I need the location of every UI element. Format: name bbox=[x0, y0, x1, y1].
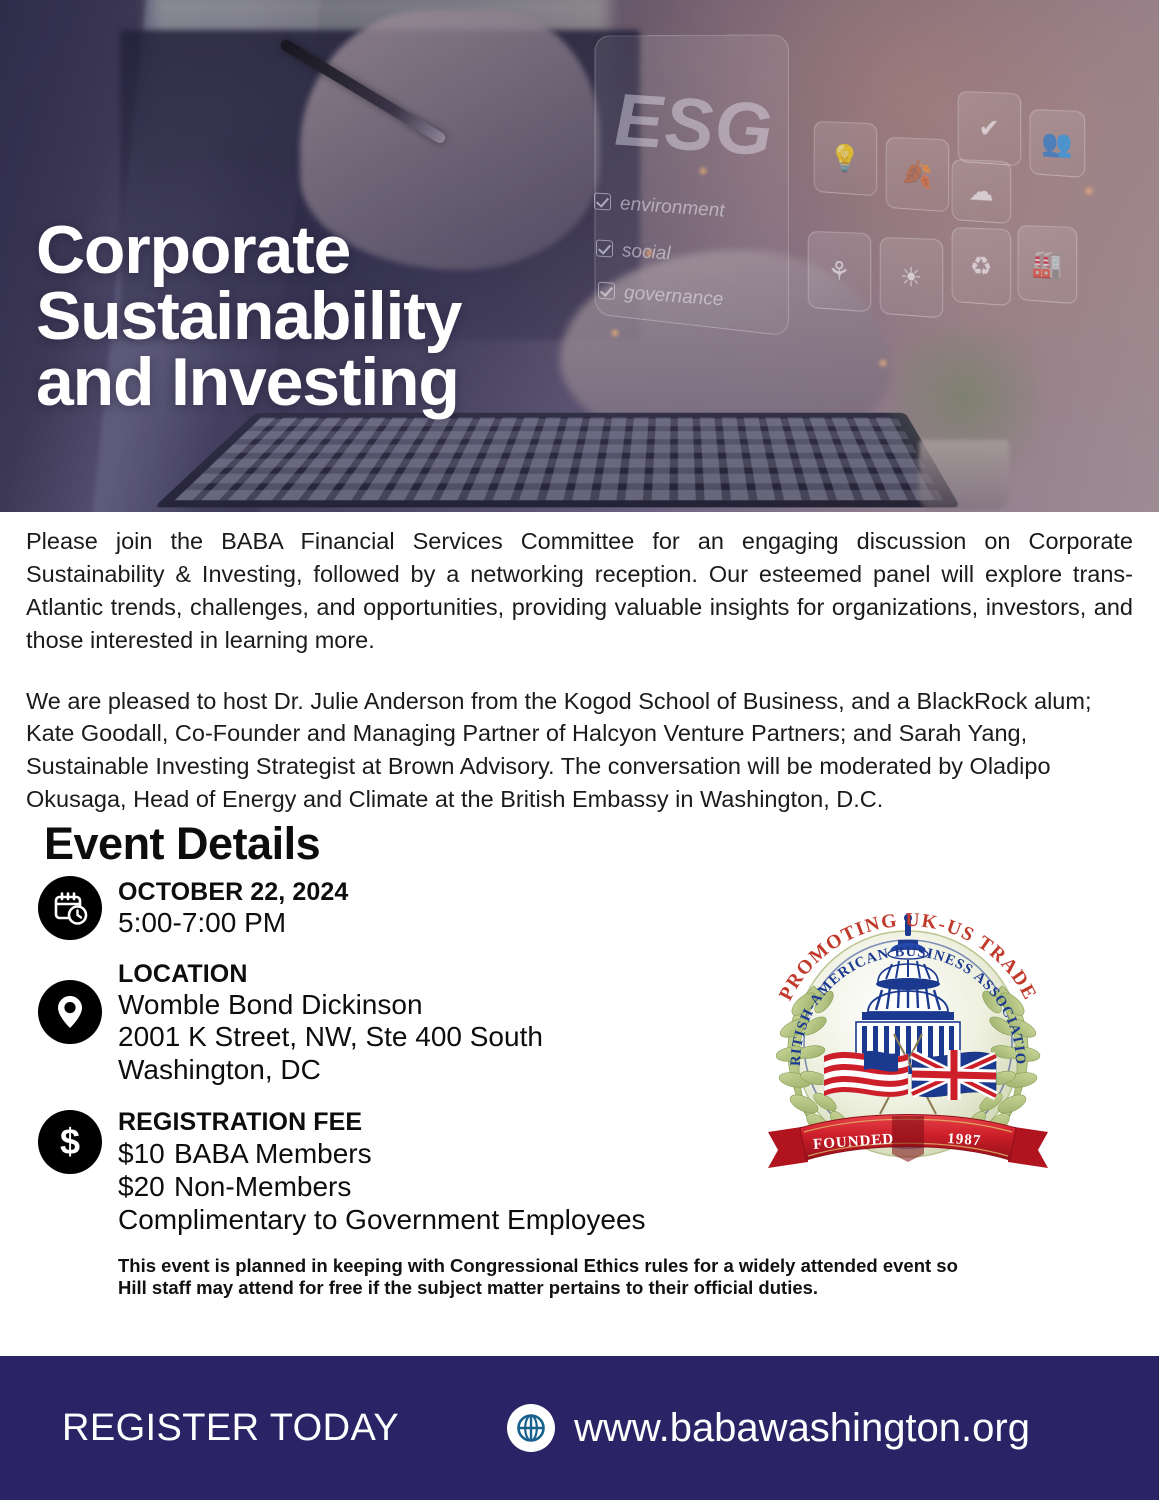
map-pin-icon bbox=[38, 980, 102, 1044]
fee-amount: $10 bbox=[118, 1137, 174, 1170]
leaf-hand-icon: 🍂 bbox=[886, 137, 949, 212]
checkbox-icon bbox=[596, 239, 613, 257]
event-street: 2001 K Street, NW, Ste 400 South bbox=[118, 1021, 543, 1053]
hero-sparkle bbox=[700, 168, 706, 174]
page-title: Corporate Sustainability and Investing bbox=[36, 218, 461, 416]
recycle-icon: ♻ bbox=[952, 227, 1012, 306]
people-icon: 👥 bbox=[1029, 109, 1085, 178]
checkbox-icon bbox=[594, 192, 611, 210]
ethics-disclaimer: This event is planned in keeping with Co… bbox=[118, 1255, 1078, 1300]
website-link[interactable]: www.babawashington.org bbox=[507, 1404, 1030, 1452]
fee-amount: $20 bbox=[118, 1170, 174, 1203]
page-title-line-3: and Investing bbox=[36, 350, 461, 416]
solar-panel-icon: ☀ bbox=[880, 237, 943, 318]
event-location-label: LOCATION bbox=[118, 960, 543, 989]
event-venue: Womble Bond Dickinson bbox=[118, 989, 543, 1021]
hero-sparkle bbox=[880, 360, 886, 366]
intro-paragraph-1: Please join the BABA Financial Services … bbox=[26, 525, 1133, 657]
lightbulb-icon: 💡 bbox=[814, 121, 877, 196]
uk-flag-icon bbox=[912, 1050, 996, 1100]
factory-icon: 🏭 bbox=[1018, 225, 1078, 304]
check-circle-icon: ✔ bbox=[958, 91, 1021, 166]
footer-bar: REGISTER TODAY www.babawashington.org bbox=[0, 1356, 1159, 1500]
event-time-label: 5:00-7:00 PM bbox=[118, 907, 348, 939]
event-fee-label: REGISTRATION FEE bbox=[118, 1108, 646, 1137]
hero-keyboard bbox=[154, 413, 961, 508]
intro-paragraph-2: We are pleased to host Dr. Julie Anderso… bbox=[26, 685, 1133, 817]
hero-banner: ESG environment social governance 💡 🍂 ✔ … bbox=[0, 0, 1159, 512]
logo-ribbon-right-text: 1987 bbox=[947, 1131, 982, 1149]
hero-sparkle bbox=[612, 330, 618, 336]
intro-section: Please join the BABA Financial Services … bbox=[0, 512, 1159, 816]
event-date-label: OCTOBER 22, 2024 bbox=[118, 878, 348, 907]
register-today-cta[interactable]: REGISTER TODAY bbox=[62, 1407, 399, 1450]
event-details-heading: Event Details bbox=[44, 818, 1159, 870]
hero-sparkle bbox=[646, 250, 652, 256]
website-url: www.babawashington.org bbox=[574, 1406, 1030, 1451]
fee-complimentary-note: Complimentary to Government Employees bbox=[118, 1203, 646, 1236]
globe-icon bbox=[507, 1404, 555, 1452]
svg-text:$: $ bbox=[60, 1121, 80, 1162]
page-title-line-1: Corporate bbox=[36, 218, 461, 284]
fee-audience: Non-Members bbox=[174, 1171, 351, 1202]
event-city: Washington, DC bbox=[118, 1054, 543, 1086]
page-title-line-2: Sustainability bbox=[36, 284, 461, 350]
ethics-disclaimer-line-2: Hill staff may attend for free if the su… bbox=[118, 1277, 1078, 1300]
calendar-clock-icon bbox=[38, 876, 102, 940]
globe-network-icon: ☁ bbox=[952, 159, 1012, 224]
ethics-disclaimer-line-1: This event is planned in keeping with Co… bbox=[118, 1255, 1078, 1278]
dollar-sign-icon: $ bbox=[38, 1110, 102, 1174]
hero-plant-pot bbox=[919, 440, 1009, 510]
fee-audience: BABA Members bbox=[174, 1138, 372, 1169]
baba-seal-logo: PROMOTING UK-US TRADE BRITISH-AMERICAN B… bbox=[752, 878, 1064, 1190]
us-flag-icon bbox=[824, 1051, 908, 1097]
fee-tier-nonmember: $20Non-Members bbox=[118, 1170, 646, 1203]
flyer-page: ESG environment social governance 💡 🍂 ✔ … bbox=[0, 0, 1159, 1500]
checkbox-icon bbox=[598, 282, 615, 300]
fee-tier-member: $10BABA Members bbox=[118, 1137, 646, 1170]
esg-headline: ESG bbox=[614, 76, 773, 172]
hero-sparkle bbox=[1086, 188, 1092, 194]
wind-turbine-icon: ⚘ bbox=[808, 231, 871, 312]
